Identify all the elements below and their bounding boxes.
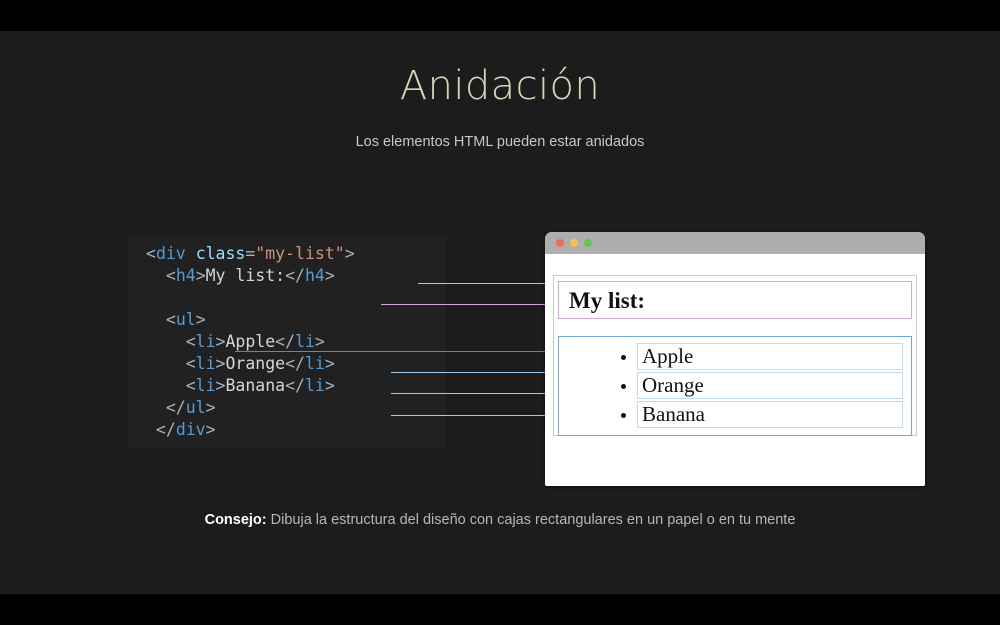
code-token-tag: li — [305, 376, 325, 395]
code-token-punct: < — [146, 266, 176, 285]
list-item-label: Banana — [642, 404, 705, 425]
line-li-apple: <li>Apple</li> — [146, 331, 436, 353]
line-h4: <h4>My list:</h4> — [146, 265, 436, 287]
tip-line: Consejo: Dibuja la estructura del diseño… — [0, 512, 1000, 528]
code-token-punct: > — [325, 354, 335, 373]
code-token-text: Orange — [225, 354, 285, 373]
rendered-li-box: Banana — [637, 401, 903, 428]
code-token-punct: > — [315, 332, 325, 351]
code-token-punct: </ — [146, 398, 186, 417]
page-title: Anidación — [0, 63, 1000, 109]
rendered-li-box: Orange — [637, 372, 903, 399]
bullet-icon — [621, 413, 626, 418]
line-ul-open: <ul> — [146, 309, 436, 331]
code-token-punct: </ — [285, 376, 305, 395]
line-blank-1 — [146, 287, 436, 309]
code-token-tag: div — [156, 244, 186, 263]
code-token-tag: li — [295, 332, 315, 351]
letterbox-bottom — [0, 594, 1000, 625]
code-token-punct: > — [196, 310, 206, 329]
code-token-punct: > — [216, 376, 226, 395]
bullet-icon — [621, 355, 626, 360]
code-token-punct: </ — [146, 420, 176, 439]
list-item: Orange — [559, 371, 903, 400]
code-token-tag: h4 — [305, 266, 325, 285]
rendered-li-box: Apple — [637, 343, 903, 370]
code-token-tag: ul — [186, 398, 206, 417]
code-token-punct: > — [216, 354, 226, 373]
browser-titlebar — [545, 232, 925, 254]
code-token-tag: h4 — [176, 266, 196, 285]
connector-div — [418, 283, 548, 284]
code-token-punct: = — [245, 244, 255, 263]
list-item-label: Apple — [642, 346, 693, 367]
slide-canvas: Anidación Los elementos HTML pueden esta… — [0, 31, 1000, 594]
list-item: Apple — [559, 342, 903, 371]
code-token-text: Apple — [225, 332, 275, 351]
code-token-punct: </ — [285, 354, 305, 373]
letterbox-top — [0, 0, 1000, 31]
close-dot-icon[interactable] — [556, 239, 564, 247]
page-subtitle: Los elementos HTML pueden estar anidados — [0, 134, 1000, 150]
code-token-punct: > — [325, 376, 335, 395]
browser-mockup: My list: Apple Orange — [545, 232, 925, 486]
rendered-heading-text: My list: — [569, 289, 645, 312]
code-token-tag: li — [196, 354, 216, 373]
rendered-h4-box: My list: — [558, 281, 912, 319]
code-token-punct: > — [345, 244, 355, 263]
line-div-close: </div> — [146, 419, 436, 441]
code-token-text: My list: — [206, 266, 285, 285]
code-token-text — [186, 244, 196, 263]
code-token-punct: < — [146, 332, 196, 351]
code-token-attr: class — [196, 244, 246, 263]
code-token-punct: < — [146, 244, 156, 263]
code-token-tag: li — [196, 332, 216, 351]
rendered-ul-box: Apple Orange Banana — [558, 336, 912, 436]
tip-label: Consejo: — [205, 512, 267, 528]
code-token-tag: li — [305, 354, 325, 373]
code-token-text: Banana — [225, 376, 285, 395]
code-token-tag: ul — [176, 310, 196, 329]
connector-h4 — [381, 304, 553, 305]
tip-text: Dibuja la estructura del diseño con caja… — [267, 512, 796, 528]
browser-viewport: My list: Apple Orange — [545, 254, 925, 486]
connector-ul — [235, 351, 558, 352]
list-item-label: Orange — [642, 375, 704, 396]
code-token-punct: < — [146, 310, 176, 329]
line-div-open: <div class="my-list"> — [146, 243, 436, 265]
code-token-punct: > — [206, 398, 216, 417]
maximize-dot-icon[interactable] — [584, 239, 592, 247]
code-token-tag: div — [176, 420, 206, 439]
code-token-punct: > — [206, 420, 216, 439]
slide-frame: Anidación Los elementos HTML pueden esta… — [0, 0, 1000, 625]
code-token-punct: </ — [285, 266, 305, 285]
bullet-icon — [621, 384, 626, 389]
code-block: <div class="my-list"> <h4>My list:</h4> … — [128, 237, 446, 449]
code-token-punct: > — [216, 332, 226, 351]
code-token-punct: > — [196, 266, 206, 285]
code-token-punct: </ — [275, 332, 295, 351]
code-token-tag: li — [196, 376, 216, 395]
minimize-dot-icon[interactable] — [570, 239, 578, 247]
code-token-punct: < — [146, 376, 196, 395]
list-item: Banana — [559, 400, 903, 429]
code-token-punct: < — [146, 354, 196, 373]
code-token-str: "my-list" — [255, 244, 344, 263]
code-token-punct: > — [325, 266, 335, 285]
